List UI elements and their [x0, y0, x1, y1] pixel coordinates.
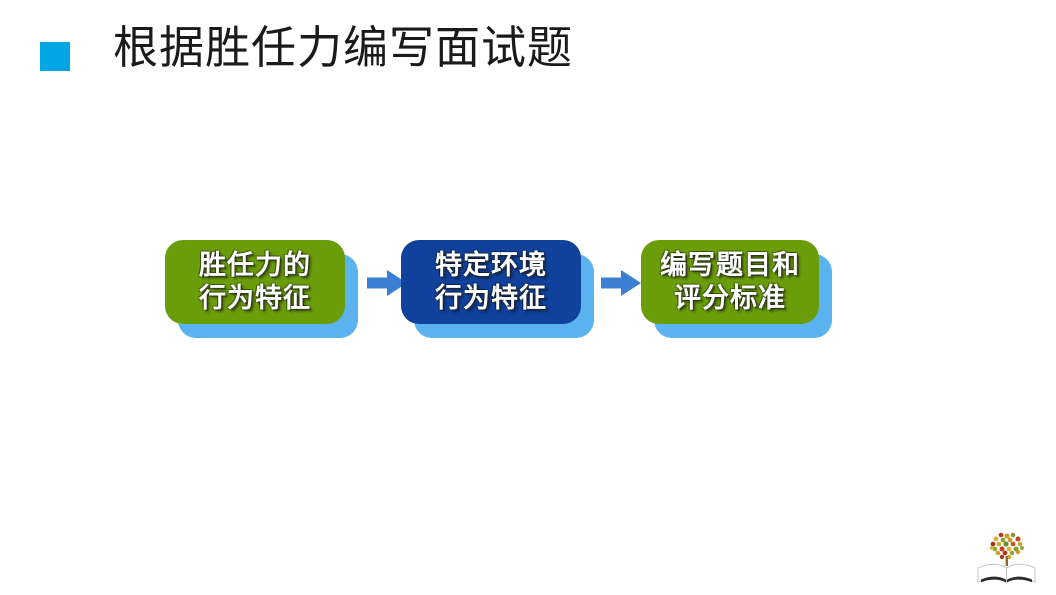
flow-node-2-line1: 特定环境: [435, 249, 547, 282]
flow-node-3-body: 编写题目和 评分标准: [641, 240, 819, 324]
flow-node-1-body: 胜任力的 行为特征: [165, 240, 345, 324]
slide-title-row: 根据胜任力编写面试题: [0, 0, 1056, 110]
flow-node-3-line1: 编写题目和: [660, 249, 800, 282]
slide-canvas: 根据胜任力编写面试题 胜任力的 行为特征 特定环境 行为特征: [0, 0, 1056, 595]
title-bullet-square-icon: [40, 42, 70, 71]
page-title: 根据胜任力编写面试题: [113, 20, 573, 76]
flow-node-2-line2: 行为特征: [435, 282, 547, 315]
arrow-right-icon: [601, 270, 641, 296]
flow-node-1-line2: 行为特征: [199, 282, 311, 315]
process-flow-diagram: 胜任力的 行为特征 特定环境 行为特征: [0, 240, 1056, 360]
flow-node-3-line2: 评分标准: [674, 282, 786, 315]
flow-node-2-body: 特定环境 行为特征: [401, 240, 581, 324]
flow-node-1-line1: 胜任力的: [199, 249, 311, 282]
book-tree-logo-icon: [972, 522, 1042, 588]
